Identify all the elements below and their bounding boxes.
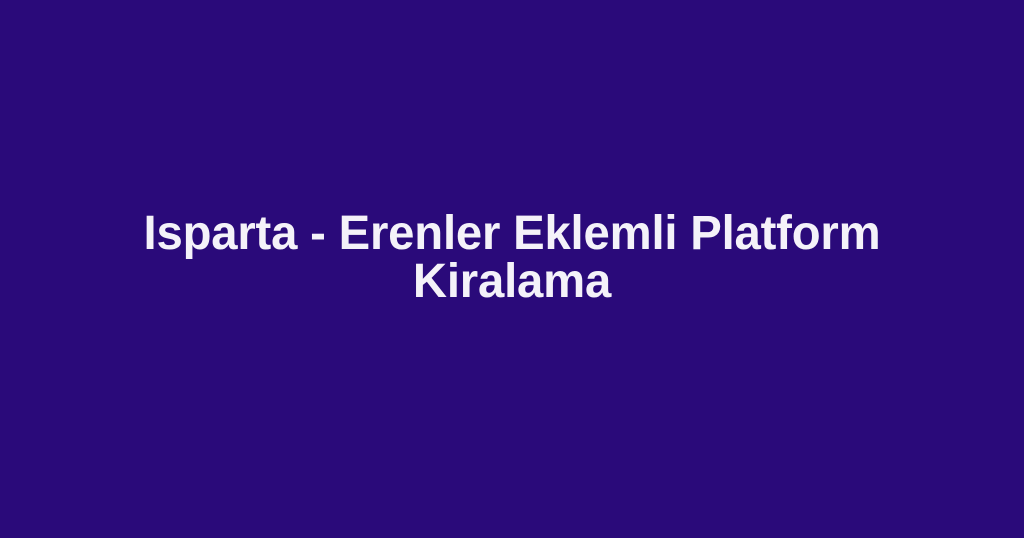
title-block: Isparta - Erenler Eklemli Platform Kiral…: [112, 210, 912, 306]
share-card-canvas: Isparta - Erenler Eklemli Platform Kiral…: [0, 0, 1024, 538]
page-title: Isparta - Erenler Eklemli Platform Kiral…: [118, 210, 906, 306]
